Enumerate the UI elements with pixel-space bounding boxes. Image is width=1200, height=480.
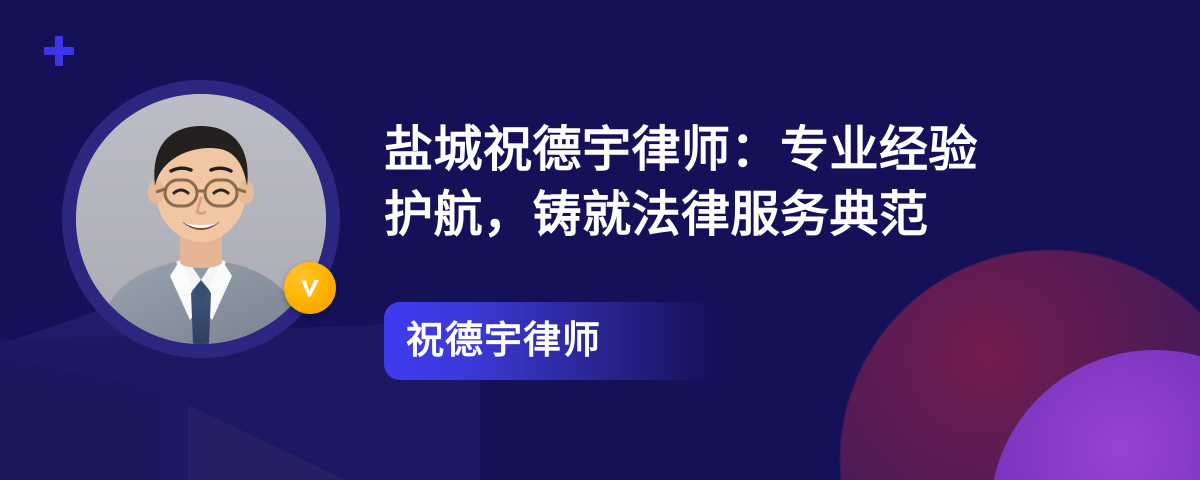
headline-block: 盐城祝德宇律师：专业经验护航，铸就法律服务典范 bbox=[384, 118, 1084, 248]
avatar bbox=[62, 80, 340, 358]
decor-triangle-bottom bbox=[188, 405, 608, 480]
lawyer-name-label: 祝德宇律师 bbox=[406, 322, 601, 360]
verified-badge-icon bbox=[284, 262, 336, 314]
decor-glow-circle-purple bbox=[990, 350, 1200, 480]
page-title: 盐城祝德宇律师：专业经验护航，铸就法律服务典范 bbox=[384, 118, 1004, 248]
lawyer-name-badge[interactable]: 祝德宇律师 bbox=[384, 302, 714, 380]
plus-icon bbox=[44, 36, 74, 66]
decor-glow-circle-crimson bbox=[840, 250, 1200, 480]
avatar-photo bbox=[76, 94, 326, 344]
lawyer-promo-banner: 盐城祝德宇律师：专业经验护航，铸就法律服务典范 祝德宇律师 bbox=[0, 0, 1200, 480]
decor-polygon-left-c bbox=[0, 355, 165, 480]
